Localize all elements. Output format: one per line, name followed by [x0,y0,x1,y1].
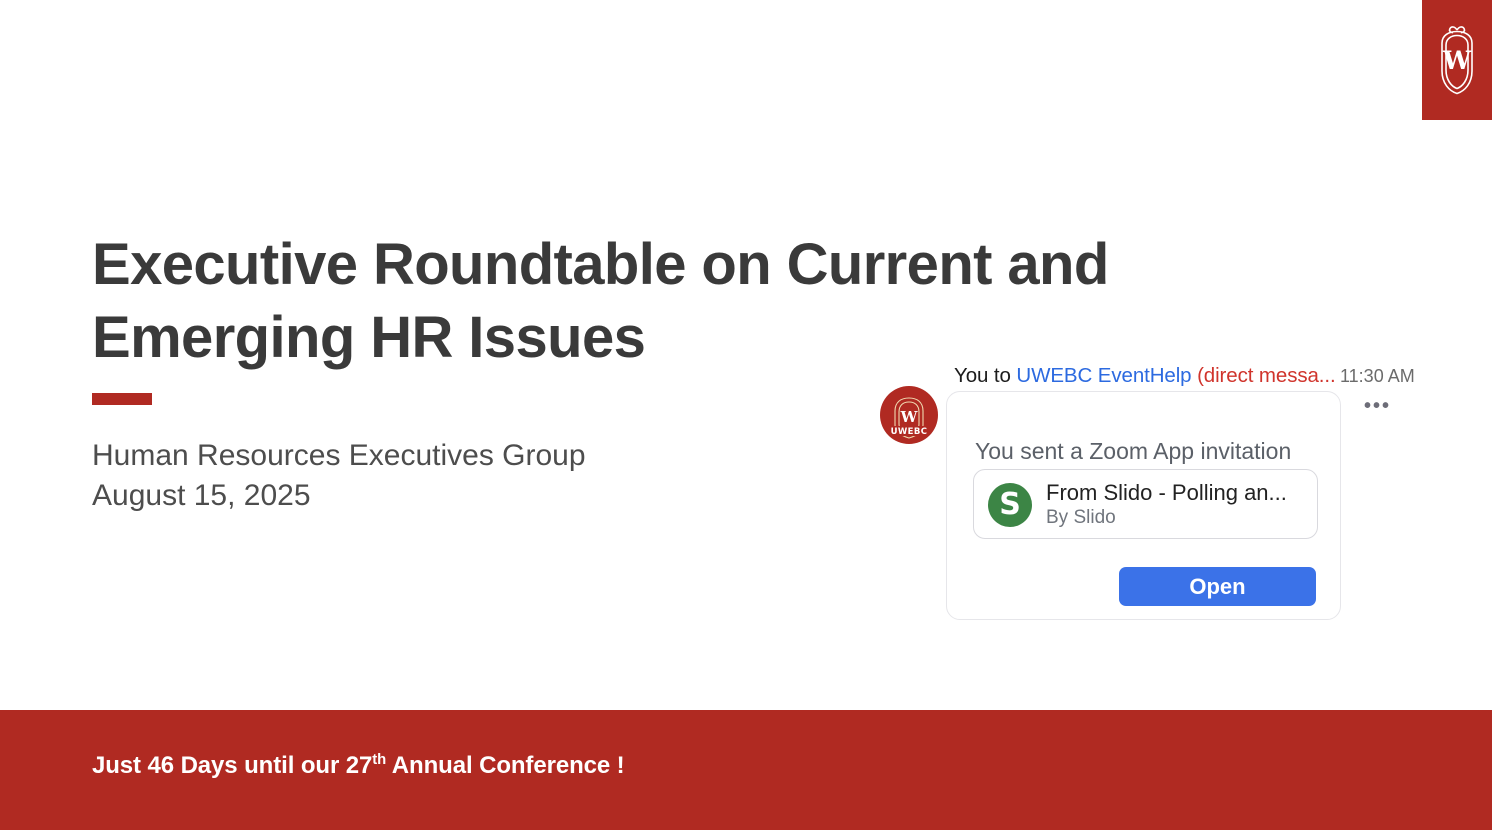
svg-text:W: W [1442,46,1472,75]
accent-rule-divider [92,393,152,405]
countdown-suffix: Annual Conference ! [386,752,624,779]
chat-message-bubble: You sent a Zoom App invitation S From Sl… [946,391,1341,620]
chat-message-header: You to UWEBC EventHelp (direct messa... [954,364,1336,388]
uw-crest-icon: W [1433,23,1481,97]
slido-app-icon: S [988,483,1032,527]
chat-recipient-label[interactable]: UWEBC EventHelp [1016,364,1191,387]
conference-countdown-text: Just 46 Days until our 27th Annual Confe… [92,752,625,780]
zoom-chat-screenshot: W UWEBC You to UWEBC EventHelp (direct m… [872,358,1442,626]
uwebc-avatar: W UWEBC [880,386,938,444]
uw-madison-crest-logo: W [1422,0,1492,120]
zoom-app-card[interactable]: S From Slido - Polling an... By Slido [973,469,1318,539]
chat-timestamp: 11:30 AM [1340,366,1415,387]
presentation-slide: W Executive Roundtable on Current and Em… [0,0,1492,830]
app-name-label: From Slido - Polling an... [1046,480,1287,506]
slide-subtitle: Human Resources Executives Group August … [92,436,792,516]
invitation-title: You sent a Zoom App invitation [975,438,1291,465]
slido-icon-letter: S [999,490,1021,520]
chat-more-options-icon[interactable]: ••• [1364,401,1391,411]
open-app-button[interactable]: Open [1119,567,1316,606]
countdown-ordinal: th [372,752,386,768]
chat-scope-label: (direct messa... [1191,364,1335,387]
chat-sender-label: You to [954,364,1016,387]
footer-banner: Just 46 Days until our 27th Annual Confe… [0,710,1492,830]
app-author-label: By Slido [1046,507,1116,529]
uwebc-crest-icon: W UWEBC [883,389,935,441]
slide-title: Executive Roundtable on Current and Emer… [92,228,1352,374]
svg-text:W: W [900,408,919,426]
countdown-prefix: Just 46 Days until our 27 [92,752,372,779]
svg-text:UWEBC: UWEBC [891,427,928,437]
